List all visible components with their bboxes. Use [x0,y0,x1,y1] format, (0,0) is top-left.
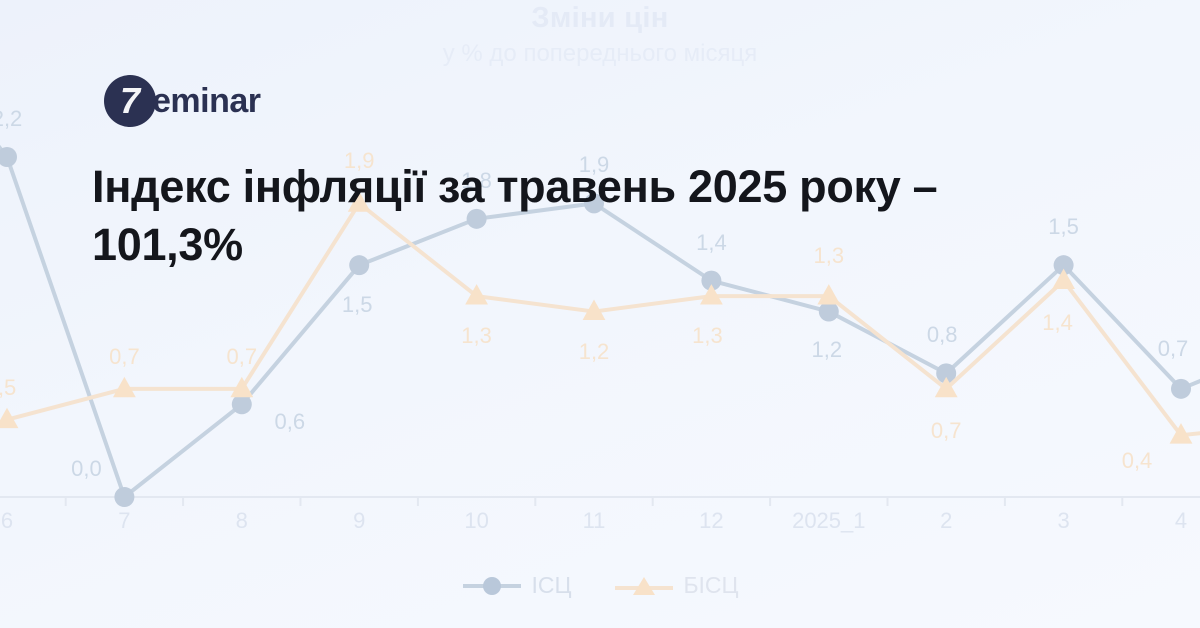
logo-mark-icon: 7 [104,75,156,127]
legend-marker-circle-icon [461,575,523,597]
x-axis-tick-label: 2 [940,508,952,534]
data-point-isc[interactable] [1171,379,1191,399]
legend-label-isc: ІСЦ [531,572,571,599]
data-point-bisc[interactable] [465,284,488,304]
page-title: Індекс інфляції за травень 2025 року – 1… [92,158,992,273]
legend-item-isc[interactable]: ІСЦ [461,572,571,599]
x-axis-tick-label: 9 [353,508,365,534]
x-axis-tick-label: 3 [1057,508,1069,534]
data-point-isc[interactable] [819,302,839,322]
x-axis-tick-label: 11 [583,508,606,534]
legend-label-bisc: БІСЦ [683,572,738,599]
x-axis-tick-label: 12 [699,508,723,534]
infographic-canvas: Зміни цін у % до попереднього місяця 2,2… [0,0,1200,628]
data-point-isc[interactable] [114,487,134,507]
logo[interactable]: 7 eminar [104,75,261,127]
x-axis [0,497,1200,506]
x-axis-tick-label: 7 [118,508,130,534]
data-point-isc[interactable] [232,394,252,414]
x-axis-tick-label: 2025_1 [792,508,865,534]
x-axis-tick-label: 10 [464,508,488,534]
legend-item-bisc[interactable]: БІСЦ [613,572,738,599]
x-axis-tick-label: 4 [1175,508,1187,534]
legend-marker-triangle-icon [613,575,675,597]
data-point-isc[interactable] [0,147,17,167]
logo-wordmark: eminar [152,82,261,121]
x-axis-tick-label: 8 [236,508,248,534]
x-axis-tick-label: 6 [1,508,13,534]
chart-legend: ІСЦ БІСЦ [0,572,1200,599]
